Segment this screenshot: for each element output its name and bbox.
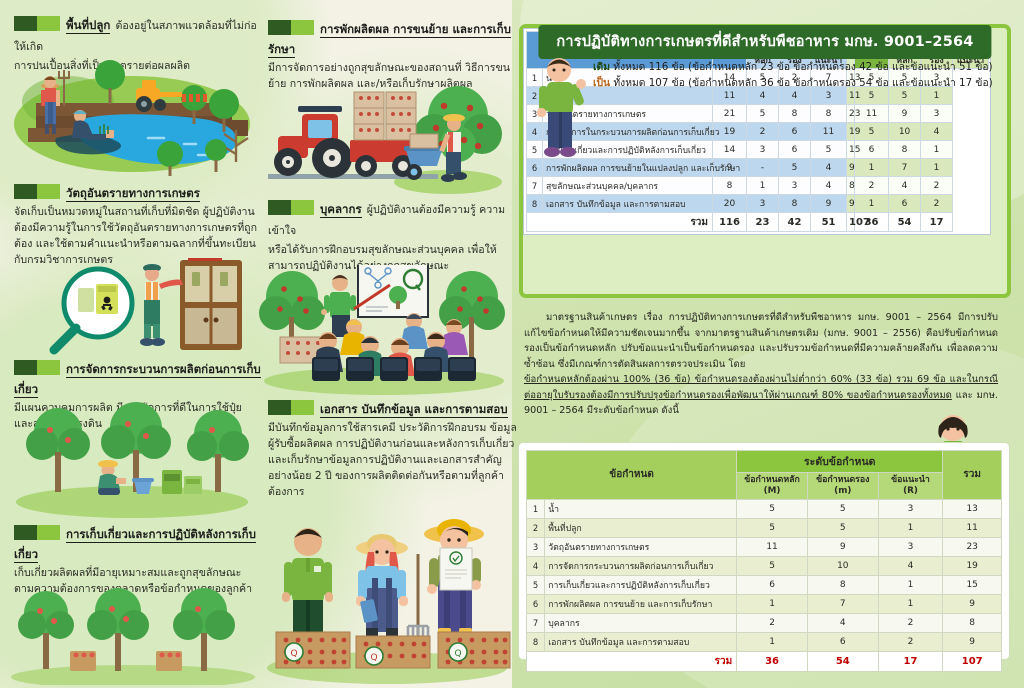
table-row: 8เอกสาร บันทึกข้อมูล และการตามสอบ1629 xyxy=(527,632,1002,651)
section-flag-icon xyxy=(14,360,60,375)
th-total: รวม xyxy=(943,451,1002,500)
section-flag-icon xyxy=(14,525,60,540)
section-title: บุคลากร xyxy=(320,202,362,218)
table-row: 2พื้นที่ปลูก55111 xyxy=(527,518,1002,537)
orchard-fertilizer-scene xyxy=(12,398,252,518)
table-row: 3วัตถุอันตรายทางการเกษตร119323 xyxy=(527,537,1002,556)
section-title: พื้นที่ปลูก xyxy=(66,18,110,34)
section-body: มีบันทึกข้อมูลการใช้สารเคมี ประวัติการฝึ… xyxy=(268,421,518,500)
section-title: เอกสาร บันทึกข้อมูล และการตามสอบ xyxy=(320,402,508,418)
svg-text:Q: Q xyxy=(290,649,297,659)
section-hazardous-materials: วัตถุอันตรายทางการเกษตร จัดเก็บเป็นหมวดห… xyxy=(14,182,264,269)
standard-description-paragraph: มาตรฐานสินค้าเกษตร เรื่อง การปฏิบัติทางก… xyxy=(524,310,998,419)
table-row: 6การพักผลิตผล การขนย้ายในแปลงปลูก และเก็… xyxy=(527,159,989,177)
paragraph-line-1: มาตรฐานสินค้าเกษตร เรื่อง การปฏิบัติทางก… xyxy=(524,310,998,372)
section-flag-icon xyxy=(268,200,314,215)
table-total-row: รวม 116 23 42 51 107 36 54 17 xyxy=(527,213,989,232)
subtitle-old-line: เดิม ทั้งหมด 116 ข้อ (ข้อกำหนดหลัก 23 ข้… xyxy=(593,60,993,76)
svg-text:Q: Q xyxy=(454,649,461,659)
panel-banner-title: การปฏิบัติทางการเกษตรที่ดีสำหรับพืชอาหาร… xyxy=(538,25,991,59)
subtitle-new-line: เป็น ทั้งหมด 107 ข้อ (ข้อกำหนดหลัก 36 ข้… xyxy=(593,76,993,92)
table-row: 4การจัดการในกระบวนการผลิตก่อนการเก็บเกี่… xyxy=(527,123,989,141)
mascot-pointing-icon xyxy=(529,54,591,164)
old-label: เดิม xyxy=(593,61,610,73)
table-row: 5การเก็บเกี่ยวและการปฏิบัติหลังการเก็บเก… xyxy=(527,141,989,159)
th-secondary-req: ข้อกำหนดรอง (m) xyxy=(807,473,878,500)
section-records-traceability: เอกสาร บันทึกข้อมูล และการตามสอบ มีบันทึ… xyxy=(268,398,518,500)
section-flag-icon xyxy=(268,20,314,35)
th-level-group: ระดับข้อกำหนด xyxy=(737,451,943,473)
requirement-levels-table: ข้อกำหนด ระดับข้อกำหนด รวม ข้อกำหนดหลัก … xyxy=(526,450,1002,672)
standard-comparison-panel: การปฏิบัติทางการเกษตรที่ดีสำหรับพืชอาหาร… xyxy=(519,24,1011,298)
th-main-req: ข้อกำหนดหลัก (M) xyxy=(737,473,808,500)
chemical-storage-scene xyxy=(40,258,250,358)
table-row: 7บุคลากร2428 xyxy=(527,613,1002,632)
section-flag-icon xyxy=(268,400,314,415)
old-text: ทั้งหมด 116 ข้อ (ข้อกำหนดหลัก 23 ข้อ ข้อ… xyxy=(613,61,992,73)
th-advice-req: ข้อแนะนำ (R) xyxy=(878,473,943,500)
farm-field-water-scene xyxy=(8,58,256,178)
certified-farmers-scene: Q Q Q xyxy=(262,508,512,684)
new-text: ทั้งหมด 107 ข้อ (ข้อกำหนดหลัก 36 ข้อ ข้อ… xyxy=(613,77,992,89)
table-row: 4การจัดการกระบวนการผลิตก่อนการเก็บเกี่ยว… xyxy=(527,556,1002,575)
section-flag-icon xyxy=(14,16,60,31)
section-flag-icon xyxy=(14,184,60,199)
table-row: 1น้ำ55313 xyxy=(527,499,1002,518)
svg-text:Q: Q xyxy=(370,653,377,663)
requirement-levels-panel: ข้อกำหนด ระดับข้อกำหนด รวม ข้อกำหนดหลัก … xyxy=(519,443,1009,659)
table-row: 3วัตถุอันตรายทางการเกษตร21588231193 xyxy=(527,105,989,123)
harvest-orchard-scene xyxy=(8,585,258,685)
th-requirement: ข้อกำหนด xyxy=(527,451,737,500)
infographic-page: พื้นที่ปลูก ต้องอยู่ในสภาพแวดล้อมที่ไม่ก… xyxy=(0,0,1024,688)
section-title: วัตถุอันตรายทางการเกษตร xyxy=(66,186,200,202)
paragraph-underlined: ข้อกำหนดหลักต้องผ่าน 100% (36 ข้อ) ข้อกำ… xyxy=(524,374,998,401)
table-row: 7สุขลักษณะส่วนบุคคล/บุคลากร81348242 xyxy=(527,177,989,195)
table-row: 5การเก็บเกี่ยวและการปฏิบัติหลังการเก็บเก… xyxy=(527,575,1002,594)
section-personnel: บุคลากร ผู้ปฏิบัติงานต้องมีความรู้ ความเ… xyxy=(268,198,518,275)
table-row: 6การพักผลิตผล การขนย้าย และการเก็บรักษา1… xyxy=(527,594,1002,613)
panel-subtitle-lines: เดิม ทั้งหมด 116 ข้อ (ข้อกำหนดหลัก 23 ข้… xyxy=(593,60,993,92)
table-total-row: รวม 36 54 17 107 xyxy=(527,651,1002,671)
new-label: เป็น xyxy=(593,77,610,89)
requirement-levels-table-container: ข้อกำหนด ระดับข้อกำหนด รวม ข้อกำหนดหลัก … xyxy=(526,450,1002,672)
training-classroom-scene xyxy=(258,265,510,395)
table-header-row-1: ข้อกำหนด ระดับข้อกำหนด รวม xyxy=(527,451,1002,473)
tractor-transport-scene xyxy=(258,78,508,198)
table-row: 8เอกสาร บันทึกข้อมูล และการตามสอบ2038991… xyxy=(527,195,989,213)
